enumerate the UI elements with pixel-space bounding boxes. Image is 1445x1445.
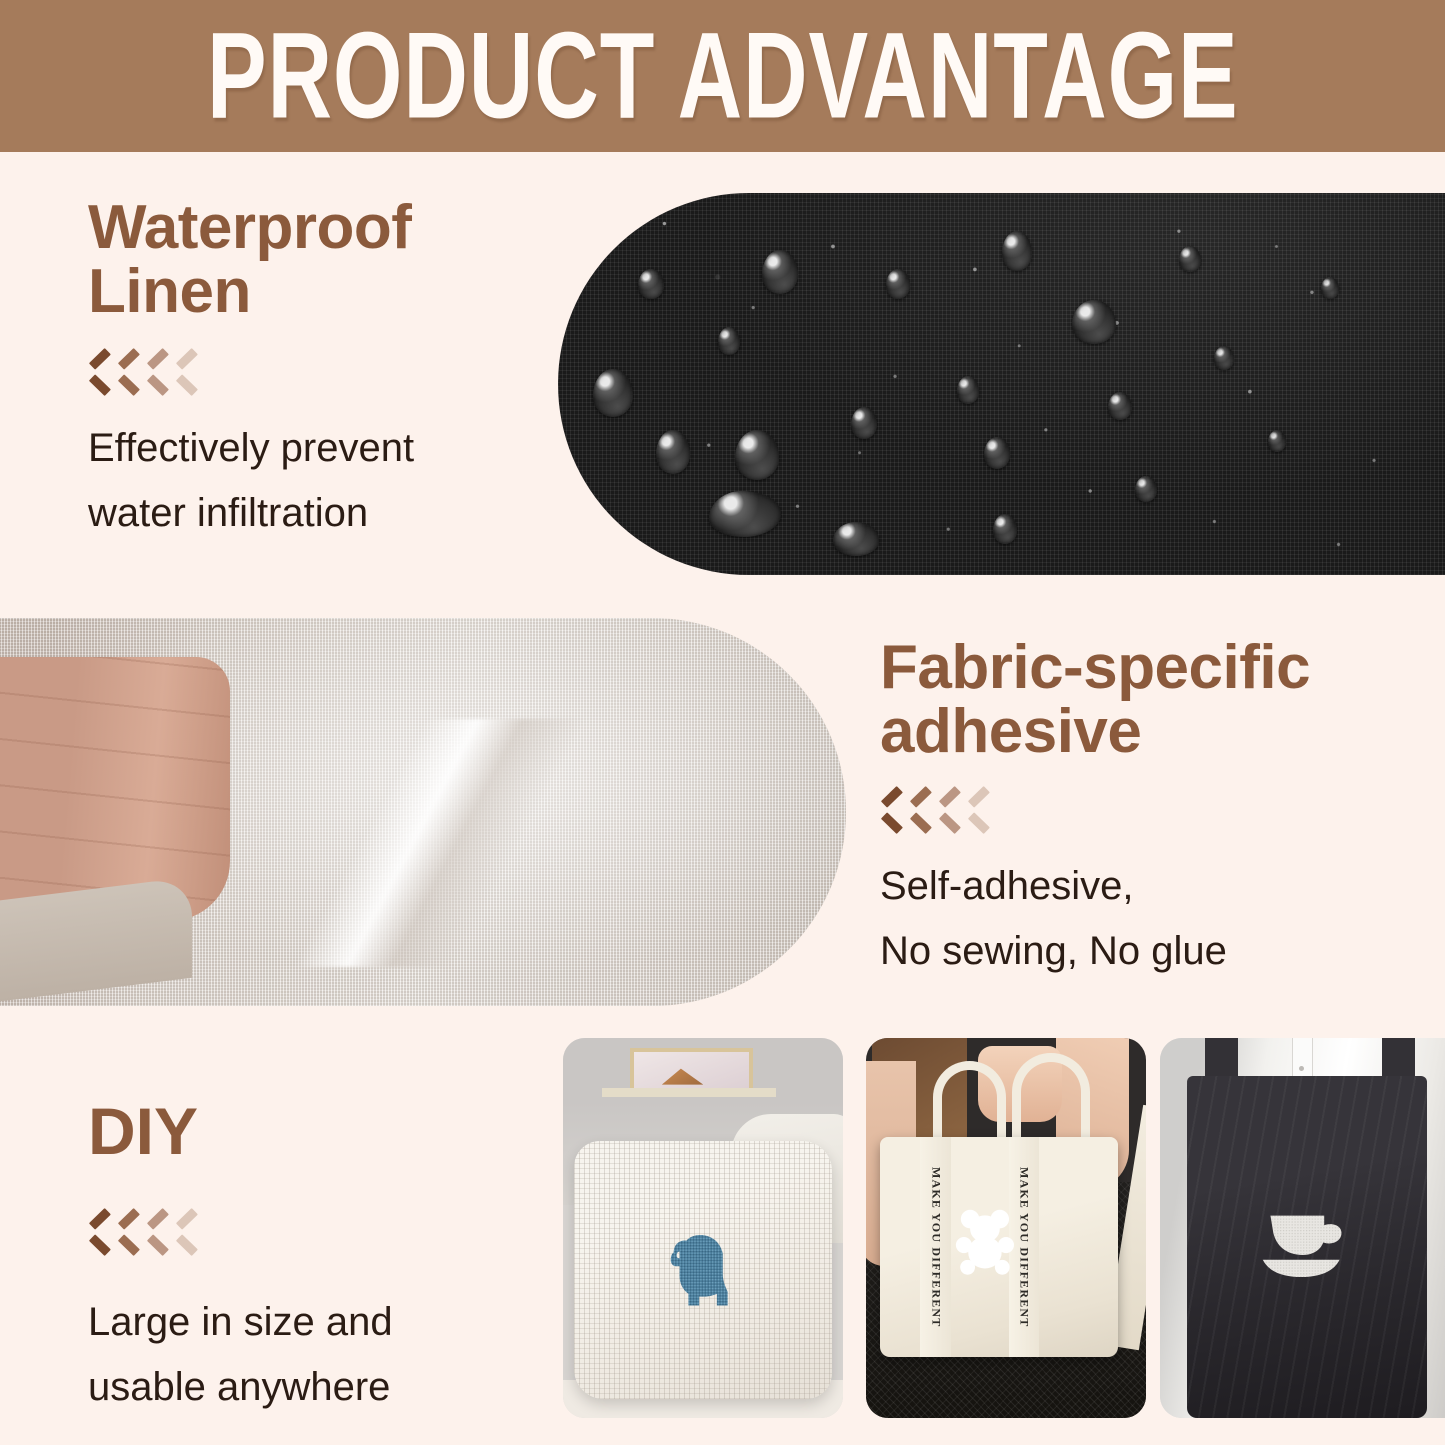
chevron-left-icon-2 (117, 355, 143, 389)
waterproof-fabric-photo (558, 193, 1445, 575)
chevron-left-icon-1 (880, 793, 906, 827)
side-table (602, 1088, 776, 1096)
water-droplet (984, 437, 1010, 469)
feature-description-waterproof-linen: Effectively prevent water infiltration (88, 416, 528, 546)
wall-picture-frame (630, 1048, 753, 1091)
feature-title-waterproof-linen: Waterproof Linen (88, 196, 528, 324)
product-advantage-infographic: PRODUCT ADVANTAGE Waterproof Linen Effec… (0, 0, 1445, 1445)
chevron-left-icon-2 (909, 793, 935, 827)
water-droplet (718, 327, 740, 355)
header-banner: PRODUCT ADVANTAGE (0, 0, 1445, 152)
chevron-left-icon-4 (175, 1215, 201, 1249)
teacup-icon (1257, 1199, 1353, 1288)
chevron-divider-adhesive (880, 788, 1420, 832)
water-droplet (656, 430, 690, 474)
tote-strap-label-left: MAKE YOU DIFFERENT (928, 1167, 943, 1328)
water-droplet (833, 522, 879, 556)
chevron-left-icon-3 (938, 793, 964, 827)
chevron-left-icon-4 (175, 355, 201, 389)
chevron-divider-diy (88, 1210, 528, 1254)
product-photo-apron (1160, 1038, 1445, 1418)
water-droplet (1321, 277, 1339, 299)
water-droplet (638, 269, 664, 299)
feature-block-fabric-specific-adhesive: Fabric-specific adhesive Self-adhesive, … (880, 636, 1420, 983)
product-photo-tote-bag: MAKE YOU DIFFERENT MAKE YOU DIFFERENT (866, 1038, 1146, 1418)
chevron-left-icon-3 (146, 355, 172, 389)
chevron-left-icon-1 (88, 1215, 114, 1249)
feature-description-fabric-specific-adhesive: Self-adhesive, No sewing, No glue (880, 854, 1420, 984)
feature-title-fabric-specific-adhesive: Fabric-specific adhesive (880, 636, 1420, 764)
linen-fabric-photo (0, 618, 846, 1006)
water-droplet (993, 514, 1017, 544)
water-droplet (1002, 231, 1032, 271)
chevron-divider-waterproof (88, 350, 528, 394)
dog-silhouette-icon (651, 1223, 759, 1321)
water-droplet (886, 269, 910, 299)
water-droplet (1179, 246, 1201, 272)
chevron-left-icon-3 (146, 1215, 172, 1249)
water-droplet (762, 250, 798, 294)
water-droplet (1072, 300, 1116, 344)
water-droplet-large (709, 491, 781, 537)
cream-pillow (574, 1141, 832, 1399)
water-droplet (1108, 392, 1132, 420)
teddy-bear-icon (954, 1190, 1016, 1291)
feature-block-waterproof-linen: Waterproof Linen Effectively prevent wat… (88, 196, 528, 545)
chevron-left-icon-2 (117, 1215, 143, 1249)
water-droplet (957, 376, 979, 404)
tote-strap-text-left: MAKE YOU DIFFERENT (920, 1137, 951, 1357)
water-droplet (1214, 346, 1234, 370)
water-droplet (851, 407, 877, 439)
product-photo-pillow (563, 1038, 843, 1418)
black-apron (1187, 1076, 1427, 1418)
page-title: PRODUCT ADVANTAGE (207, 15, 1239, 138)
canvas-tote-bag: MAKE YOU DIFFERENT MAKE YOU DIFFERENT (880, 1137, 1118, 1357)
chevron-left-icon-4 (967, 793, 993, 827)
water-droplet (1268, 430, 1286, 452)
water-droplet (1135, 476, 1157, 502)
chevron-left-icon-1 (88, 355, 114, 389)
feature-description-diy: Large in size and usable anywhere (88, 1290, 528, 1420)
tote-strap-label-right: MAKE YOU DIFFERENT (1016, 1167, 1031, 1328)
feature-title-diy: DIY (88, 1098, 528, 1166)
hand-holding-fabric (0, 657, 230, 921)
feature-block-diy: DIY Large in size and usable anywhere (88, 1098, 528, 1420)
